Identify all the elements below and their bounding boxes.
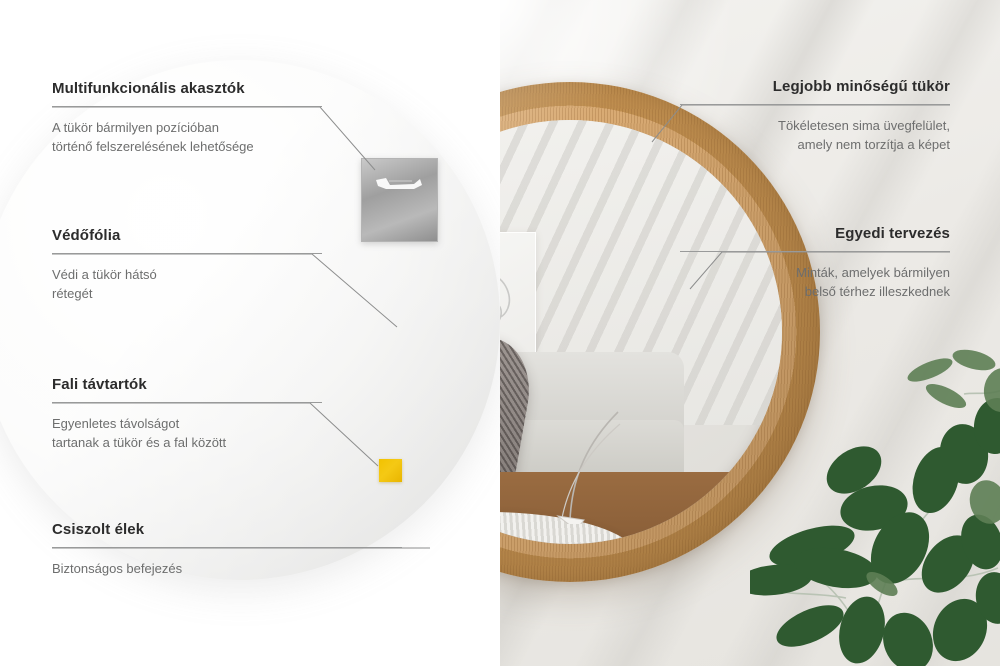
callout-description: A tükör bármilyen pozícióban történő fel… xyxy=(52,118,322,156)
desc-line-2: amely nem torzítja a képet xyxy=(798,137,950,152)
desc-line-1: Minták, amelyek bármilyen xyxy=(796,265,950,280)
desc-line-2: belső térhez illeszkednek xyxy=(805,284,950,299)
hanger-plate xyxy=(361,158,438,242)
line-art-icon xyxy=(500,243,527,351)
desc-line-1: A tükör bármilyen pozícióban xyxy=(52,120,219,135)
desc-line-2: rétegét xyxy=(52,286,92,301)
desc-line-1: Biztonságos befejezés xyxy=(52,561,182,576)
callout-rule xyxy=(52,547,402,548)
callout-title: Védőfólia xyxy=(52,227,322,244)
mirror-glass-reflection xyxy=(500,120,782,544)
callout-title: Egyedi tervezés xyxy=(680,225,950,242)
callout-title: Fali távtartók xyxy=(52,376,322,393)
callout-title: Csiszolt élek xyxy=(52,521,402,538)
callout-rule xyxy=(52,106,322,107)
reflected-floor-lamp xyxy=(554,406,650,524)
desc-line-2: tartanak a tükör és a fal között xyxy=(52,435,226,450)
callout-description: Egyenletes távolságot tartanak a tükör é… xyxy=(52,414,322,452)
callout-unique-design: Egyedi tervezés Minták, amelyek bármilye… xyxy=(680,225,950,301)
foreground-foliage xyxy=(750,330,1000,666)
desc-line-1: Tökéletesen sima üvegfelület, xyxy=(778,118,950,133)
desc-line-1: Egyenletes távolságot xyxy=(52,416,179,431)
callout-description: Minták, amelyek bármilyen belső térhez i… xyxy=(680,263,950,301)
callout-title: Multifunkcionális akasztók xyxy=(52,80,322,97)
desc-line-2: történő felszerelésének lehetősége xyxy=(52,139,254,154)
callout-rule xyxy=(52,253,322,254)
feature-infographic: Multifunkcionális akasztók A tükör bármi… xyxy=(0,0,1000,666)
callout-description: Biztonságos befejezés xyxy=(52,559,402,578)
callout-wall-spacers: Fali távtartók Egyenletes távolságot tar… xyxy=(52,376,322,452)
hanger-hook-icon xyxy=(374,177,424,191)
callout-multifunctional-hangers: Multifunkcionális akasztók A tükör bármi… xyxy=(52,80,322,156)
desc-line-1: Védi a tükör hátsó xyxy=(52,267,157,282)
callout-polished-edges: Csiszolt élek Biztonságos befejezés xyxy=(52,521,402,578)
callout-rule xyxy=(680,251,950,252)
callout-title: Legjobb minőségű tükör xyxy=(680,78,950,95)
callout-protective-film: Védőfólia Védi a tükör hátsó rétegét xyxy=(52,227,322,303)
callout-best-quality-mirror: Legjobb minőségű tükör Tökéletesen sima … xyxy=(680,78,950,154)
callout-description: Tökéletesen sima üvegfelület, amely nem … xyxy=(680,116,950,154)
callout-description: Védi a tükör hátsó rétegét xyxy=(52,265,322,303)
yellow-wall-spacer xyxy=(379,459,402,482)
callout-rule xyxy=(680,104,950,105)
callout-rule xyxy=(52,402,322,403)
